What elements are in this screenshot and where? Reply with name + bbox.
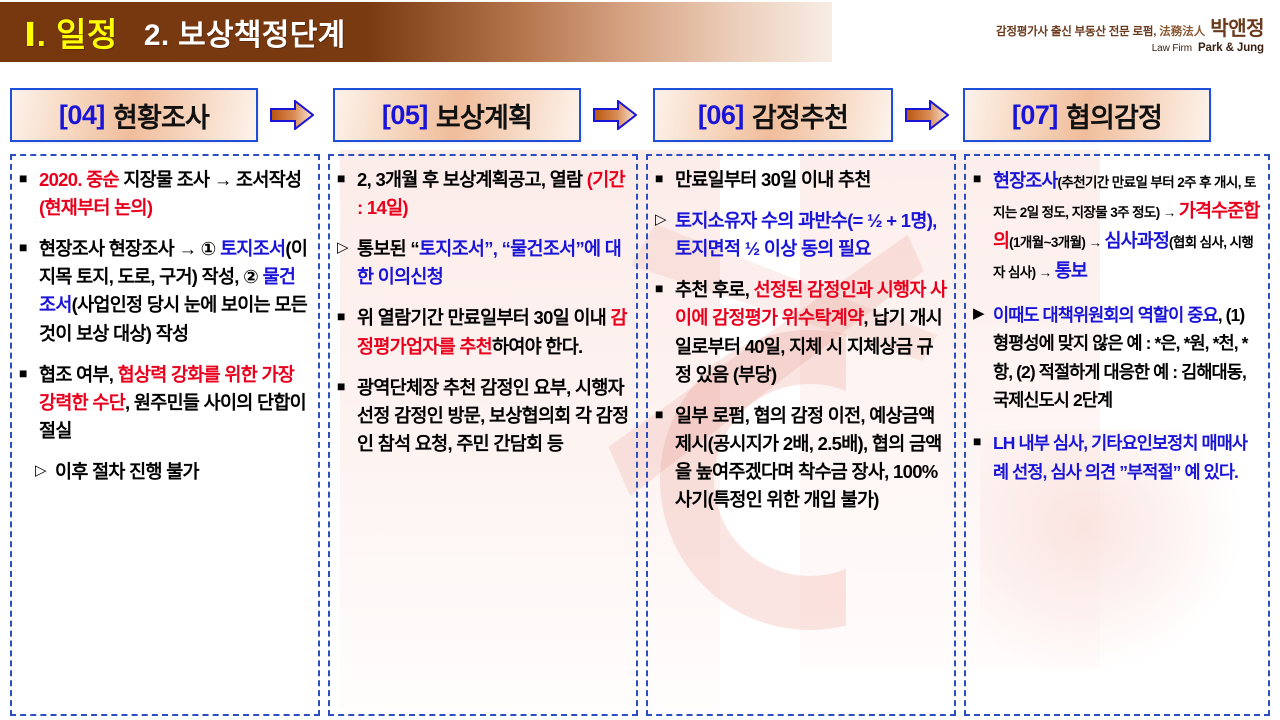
bullet-text: LH 내부 심사, 기타요인보정치 매매사례 선정, 심사 의견 ”부적절” 예… [993,429,1261,486]
text-run: (현재부터 논의) [39,197,152,218]
bullet-square-icon: ■ [337,166,357,222]
bullet-text: 광역단체장 추천 감정인 요부, 시행자 선정 감정인 방문, 보상협의회 각 … [357,374,629,458]
brand-logo: 감정평가사 출신 부동산 전문 로펌, 法務法人 박앤정 Law Firm Pa… [996,12,1264,54]
content-box-04: ■2020. 중순 지장물 조사 → 조서작성 (현재부터 논의)■현장조사 현… [10,154,320,716]
text-run: 추천 후로, [675,279,754,300]
content-box-07: ■현장조사(추천기간 만료일 부터 2주 후 개시, 토지는 2일 정도, 지장… [964,154,1270,716]
bullet-square-icon: ■ [655,402,675,514]
bullet-item: ■현장조사 현장조사 → ① 토지조서(이지목 토지, 도로, 구거) 작성, … [19,235,311,347]
bullet-text: 일부 로펌, 협의 감정 이전, 예상금액 제시(공시지가 2배, 2.5배),… [675,402,947,514]
step-number-07: [07] [1012,100,1058,131]
step-number-06: [06] [698,100,744,131]
bullet-item: ■2, 3개월 후 보상계획공고, 열람 (기간 : 14일) [337,166,629,222]
step-label-04: 현황조사 [113,96,209,135]
text-run: 이때도 대책위원회의 역할이 중요 [993,305,1218,325]
step-header-row: [04] 현황조사 [05] 보상계획 [0,88,1280,150]
section-number: Ⅰ. 일정 [24,8,118,56]
text-run: 이후 절차 진행 불가 [55,461,199,482]
brand-hanja: 法務法人 [1159,23,1205,39]
text-run: 하여야 한다. [492,336,582,357]
bullet-square-icon: ■ [655,166,675,194]
bullet-item: ■일부 로펌, 협의 감정 이전, 예상금액 제시(공시지가 2배, 2.5배)… [655,402,947,514]
content-columns: ■2020. 중순 지장물 조사 → 조서작성 (현재부터 논의)■현장조사 현… [0,154,1280,716]
bullet-square-icon: ■ [973,429,993,486]
slide-title-bar: Ⅰ. 일정 2. 보상책정단계 [0,2,832,62]
bullet-text: 이때도 대책위원회의 역할이 중요, (1) 형평성에 맞지 않은 예 : *은… [993,301,1261,414]
bullet-text: 통보된 “토지조서”, “물건조서”에 대한 이의신청 [357,235,629,291]
bullet-text: 추천 후로, 선정된 감정인과 시행자 사이에 감정평가 위수탁계약, 납기 개… [675,276,947,388]
bullet-item: ▷통보된 “토지조서”, “물건조서”에 대한 이의신청 [337,235,629,291]
text-run: 2, 3개월 후 보상계획공고, 열람 [357,169,587,190]
step-number-05: [05] [382,100,428,131]
bullet-text: 토지소유자 수의 과반수(= ½ + 1명), 토지면적 ½ 이상 동의 필요 [675,207,947,263]
bullet-triangle-icon: ▷ [337,235,357,291]
bullet-square-icon: ■ [337,304,357,360]
bullet-item: ■협조 여부, 협상력 강화를 위한 가장 강력한 수단, 원주민들 사이의 단… [19,361,311,445]
text-run: 심사과정 [1105,230,1169,251]
brand-lawfirm-name: Park & Jung [1198,42,1264,54]
content-box-06: ■만료일부터 30일 이내 추천▷토지소유자 수의 과반수(= ½ + 1명),… [646,154,956,716]
step-number-04: [04] [59,100,105,131]
step-header-04[interactable]: [04] 현황조사 [10,88,258,142]
text-run: 지장물 조사 → 조서작성 [123,169,301,190]
bullet-item: ▷토지소유자 수의 과반수(= ½ + 1명), 토지면적 ½ 이상 동의 필요 [655,207,947,263]
bullet-text: 위 열람기간 만료일부터 30일 이내 감정평가업자를 추천하여야 한다. [357,304,629,360]
bullet-triangle-filled-icon: ▶ [973,301,993,414]
text-run: 토지조서 [220,238,285,259]
arrow-06-to-07-icon [905,100,949,130]
brand-name: 박앤정 [1210,12,1264,41]
bullet-square-icon: ■ [19,166,39,222]
bullet-text: 2, 3개월 후 보상계획공고, 열람 (기간 : 14일) [357,166,629,222]
step-header-07[interactable]: [07] 협의감정 [963,88,1211,142]
bullet-square-icon: ■ [973,166,993,286]
bullet-square-icon: ■ [655,276,675,388]
page-title: 2. 보상책정단계 [144,10,346,54]
text-run: 일부 로펌, 협의 감정 이전, 예상금액 제시(공시지가 2배, 2.5배),… [675,405,942,510]
step-label-07: 협의감정 [1066,96,1162,135]
bullet-text: 2020. 중순 지장물 조사 → 조서작성 (현재부터 논의) [39,166,311,222]
bullet-item: ▶이때도 대책위원회의 역할이 중요, (1) 형평성에 맞지 않은 예 : *… [973,301,1261,414]
text-run: 현장조사 현장조사 → ① [39,238,220,259]
step-header-05[interactable]: [05] 보상계획 [333,88,581,142]
text-run: (1개월~3개월) → [1009,235,1104,250]
bullet-triangle-icon: ▷ [35,458,55,486]
bullet-item: ■현장조사(추천기간 만료일 부터 2주 후 개시, 토지는 2일 정도, 지장… [973,166,1261,286]
bullet-item: ■추천 후로, 선정된 감정인과 시행자 사이에 감정평가 위수탁계약, 납기 … [655,276,947,388]
text-run: 2020. 중순 [39,169,123,190]
bullet-square-icon: ■ [19,361,39,445]
text-run: 통보 [1055,260,1087,281]
bullet-square-icon: ■ [19,235,39,347]
sub-bullet-text: 이후 절차 진행 불가 [55,458,311,486]
text-run: 통보된 “ [357,238,419,259]
text-run: (사업인정 당시 눈에 보이는 모든 것이 보상 대상) 작성 [39,294,307,343]
text-run: 위 열람기간 만료일부터 30일 이내 [357,307,611,328]
arrow-04-to-05-icon [270,100,314,130]
text-run: 현장조사 [993,170,1057,191]
bullet-item: ■만료일부터 30일 이내 추천 [655,166,947,194]
brand-tagline: 감정평가사 출신 부동산 전문 로펌, [996,23,1156,39]
bullet-text: 만료일부터 30일 이내 추천 [675,166,947,194]
content-box-05: ■2, 3개월 후 보상계획공고, 열람 (기간 : 14일)▷통보된 “토지조… [328,154,638,716]
bullet-item: ■위 열람기간 만료일부터 30일 이내 감정평가업자를 추천하여야 한다. [337,304,629,360]
bullet-square-icon: ■ [337,374,357,458]
bullet-text: 현장조사(추천기간 만료일 부터 2주 후 개시, 토지는 2일 정도, 지장물… [993,166,1261,286]
text-run: LH 내부 심사, 기타요인보정치 매매사례 선정, 심사 의견 ”부적절” 예… [993,433,1247,481]
slide-root: Ⅰ. 일정 2. 보상책정단계 감정평가사 출신 부동산 전문 로펌, 法務法人… [0,0,1280,720]
text-run: 만료일부터 30일 이내 추천 [675,169,871,190]
sub-bullet-item: ▷이후 절차 진행 불가 [35,458,311,486]
step-label-05: 보상계획 [436,96,532,135]
bullet-item: ■광역단체장 추천 감정인 요부, 시행자 선정 감정인 방문, 보상협의회 각… [337,374,629,458]
arrow-05-to-06-icon [593,100,637,130]
brand-top-row: 감정평가사 출신 부동산 전문 로펌, 法務法人 박앤정 [996,12,1264,41]
text-run: 토지소유자 수의 과반수(= ½ + 1명), 토지면적 ½ 이상 동의 필요 [675,210,937,259]
brand-lawfirm-label: Law Firm [1152,43,1192,54]
text-run: 협조 여부, [39,364,118,385]
bullet-text: 현장조사 현장조사 → ① 토지조서(이지목 토지, 도로, 구거) 작성, ②… [39,235,311,347]
bullet-text: 협조 여부, 협상력 강화를 위한 가장 강력한 수단, 원주민들 사이의 단합… [39,361,311,445]
step-label-06: 감정추천 [752,96,848,135]
step-header-06[interactable]: [06] 감정추천 [653,88,893,142]
brand-bottom-row: Law Firm Park & Jung [996,42,1264,54]
bullet-item: ■2020. 중순 지장물 조사 → 조서작성 (현재부터 논의) [19,166,311,222]
text-run: 광역단체장 추천 감정인 요부, 시행자 선정 감정인 방문, 보상협의회 각 … [357,377,628,454]
bullet-triangle-icon: ▷ [655,207,675,263]
bullet-item: ■LH 내부 심사, 기타요인보정치 매매사례 선정, 심사 의견 ”부적절” … [973,429,1261,486]
